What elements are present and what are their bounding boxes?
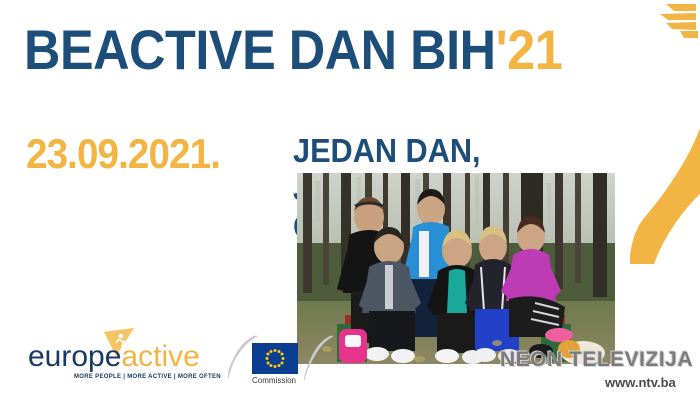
europeactive-logo: europeactive MORE PEOPLE | MORE ACTIVE |… [28,330,213,390]
poster-headline: BEACTIVE DAN BIH'21 [24,22,562,78]
european-commission-logo: Commission [226,334,338,384]
europeactive-word-europe: europe [28,340,121,373]
europeactive-wordmark: europeactive [28,342,200,372]
europeactive-tagline: MORE PEOPLE | MORE ACTIVE | MORE OFTEN [74,374,221,380]
headline-year: '21 [496,18,563,81]
event-photo [297,173,615,364]
event-date: 23.09.2021. [26,133,220,175]
headline-main: BEACTIVE DAN BIH [24,18,496,81]
yellow-hand-icon [656,2,700,40]
yellow-swoosh-shape [628,120,700,265]
slogan-line-1: JEDAN DAN, [293,132,481,170]
poster-canvas: BEACTIVE DAN BIH'21 23.09.2021. JEDAN DA… [0,0,700,402]
broadcaster-watermark: NEON TELEVIZIJA [500,348,693,372]
europeactive-word-active: active [121,340,199,373]
european-commission-label: Commission [252,376,296,385]
broadcaster-url: www.ntv.ba [605,375,676,390]
eu-flag [252,343,298,374]
